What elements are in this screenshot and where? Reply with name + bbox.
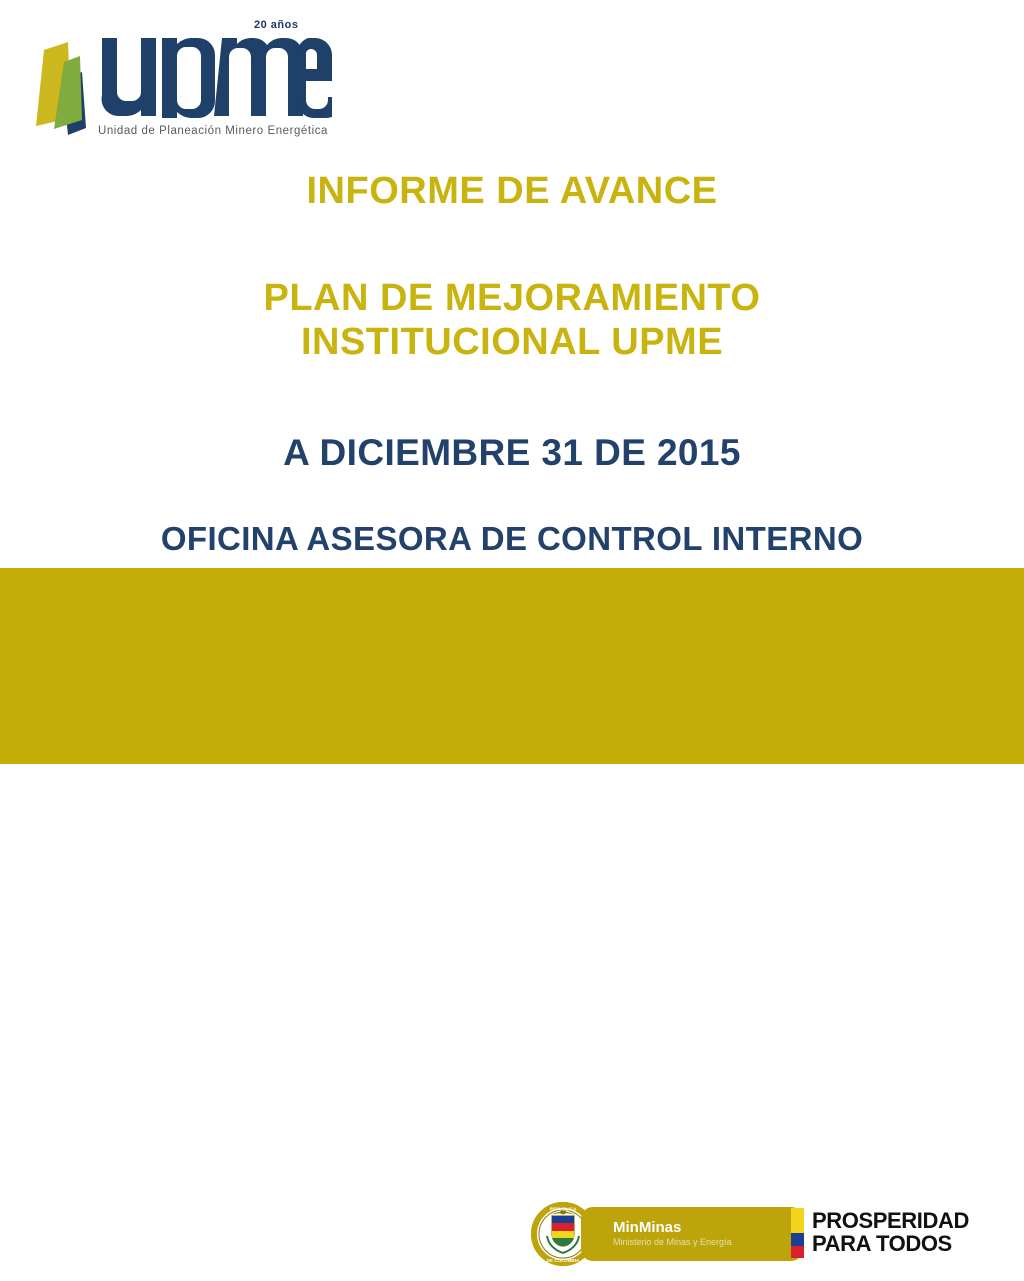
minminas-lockup: REPUBLICA DE COLOMBIA MinMinas Ministeri… — [531, 1198, 803, 1270]
flag-band-yellow — [791, 1208, 804, 1233]
seal-ring-top-text: REPUBLICA — [550, 1207, 577, 1212]
title-block-plan: PLAN DE MEJORAMIENTO INSTITUCIONAL UPME — [0, 277, 1024, 364]
title-line-informe-de-avance: INFORME DE AVANCE — [0, 170, 1024, 213]
upme-logo: 20 años Unidad de Planeación Minero Ener… — [24, 8, 334, 140]
presentation-slide: 20 años Unidad de Planeación Minero Ener… — [0, 0, 1024, 768]
prosperidad-lockup: PROSPERIDAD PARA TODOS — [791, 1208, 969, 1258]
flag-band-red — [791, 1246, 804, 1259]
flag-band-blue — [791, 1233, 804, 1246]
footer-bottom-strip — [0, 764, 1024, 768]
minminas-subtitle: Ministerio de Minas y Energía — [613, 1237, 781, 1248]
upme-tagline: Unidad de Planeación Minero Energética — [98, 125, 328, 137]
title-line-institucional-upme: INSTITUCIONAL UPME — [0, 321, 1024, 364]
slide-subtitle-group: A DICIEMBRE 31 DE 2015 OFICINA ASESORA D… — [0, 432, 1024, 558]
seal-ring-bottom-text: DE COLOMBIA — [547, 1258, 580, 1263]
minminas-name-pill: MinMinas Ministerio de Minas y Energía — [581, 1207, 803, 1261]
prosperidad-text-block: PROSPERIDAD PARA TODOS — [812, 1210, 969, 1256]
subtitle-date-line: A DICIEMBRE 31 DE 2015 — [0, 432, 1024, 473]
colombia-flag-icon — [791, 1208, 804, 1258]
footer-banner: REPUBLICA DE COLOMBIA MinMinas Ministeri… — [0, 568, 1024, 764]
footer-logo-card: REPUBLICA DE COLOMBIA MinMinas Ministeri… — [503, 1188, 1004, 1281]
title-line-plan-de-mejoramiento: PLAN DE MEJORAMIENTO — [0, 277, 1024, 320]
upme-logo-mark-icon — [24, 36, 102, 136]
subtitle-office-line: OFICINA ASESORA DE CONTROL INTERNO — [0, 521, 1024, 558]
upme-wordmark-icon — [100, 30, 332, 118]
prosperidad-line-2: PARA TODOS — [812, 1233, 969, 1256]
minminas-name: MinMinas — [613, 1220, 781, 1236]
prosperidad-line-1: PROSPERIDAD — [812, 1210, 969, 1233]
upme-anniversary-label: 20 años — [254, 19, 298, 31]
slide-title-group: INFORME DE AVANCE PLAN DE MEJORAMIENTO I… — [0, 160, 1024, 364]
